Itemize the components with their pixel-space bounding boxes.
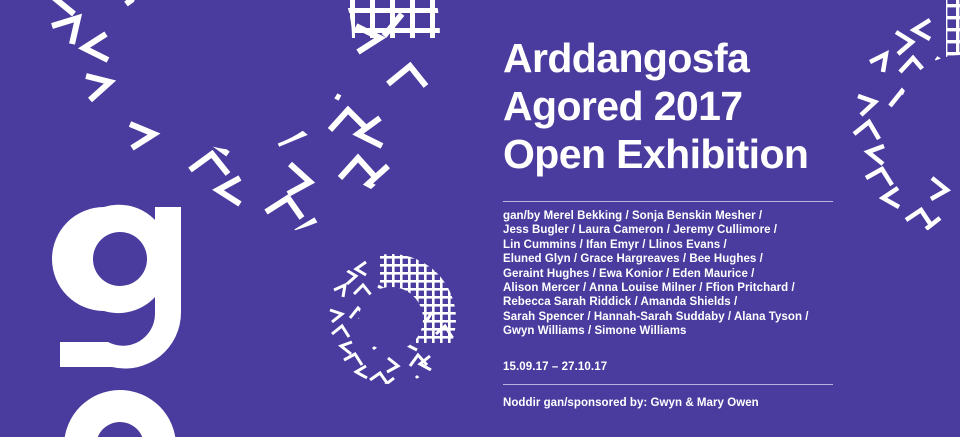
artist-line: Eluned Glyn / Grace Hargreaves / Bee Hug…	[503, 252, 848, 266]
artist-line: Sarah Spencer / Hannah-Sarah Suddaby / A…	[503, 310, 848, 324]
chevron-grid-ring-center-shape	[320, 248, 462, 390]
divider-above-sponsor	[503, 384, 833, 385]
divider-above-artists	[503, 201, 833, 202]
artist-line: Geraint Hughes / Ewa Konior / Eden Mauri…	[503, 267, 848, 281]
artist-line: Jess Bugler / Laura Cameron / Jeremy Cul…	[503, 223, 848, 237]
exhibition-poster: Arddangosfa Agored 2017 Open Exhibition …	[0, 0, 960, 437]
artist-line: gan/by Merel Bekking / Sonja Benskin Mes…	[503, 209, 848, 223]
artist-line: Gwyn Williams / Simone Williams	[503, 324, 848, 338]
poster-text-column: Arddangosfa Agored 2017 Open Exhibition …	[503, 0, 843, 437]
artist-line: Rebecca Sarah Riddick / Amanda Shields /	[503, 295, 848, 309]
poster-title: Arddangosfa Agored 2017 Open Exhibition	[503, 34, 843, 178]
artist-line: Lin Cummins / Ifan Emyr / Llinos Evans /	[503, 238, 848, 252]
sponsor-credit: Noddir gan/sponsored by: Gwyn & Mary Owe…	[503, 396, 759, 410]
artist-list: gan/by Merel Bekking / Sonja Benskin Mes…	[503, 209, 848, 339]
title-line-welsh: Arddangosfa	[503, 34, 843, 82]
gallery-g-logo	[42, 196, 202, 437]
exhibition-dates: 15.09.17 – 27.10.17	[503, 360, 607, 374]
title-line-year: Agored 2017	[503, 82, 843, 130]
chevron-grid-ring-right-shape	[836, 0, 960, 242]
artist-line: Alison Mercer / Anna Louise Milner / Ffi…	[503, 281, 848, 295]
title-line-english: Open Exhibition	[503, 130, 843, 178]
